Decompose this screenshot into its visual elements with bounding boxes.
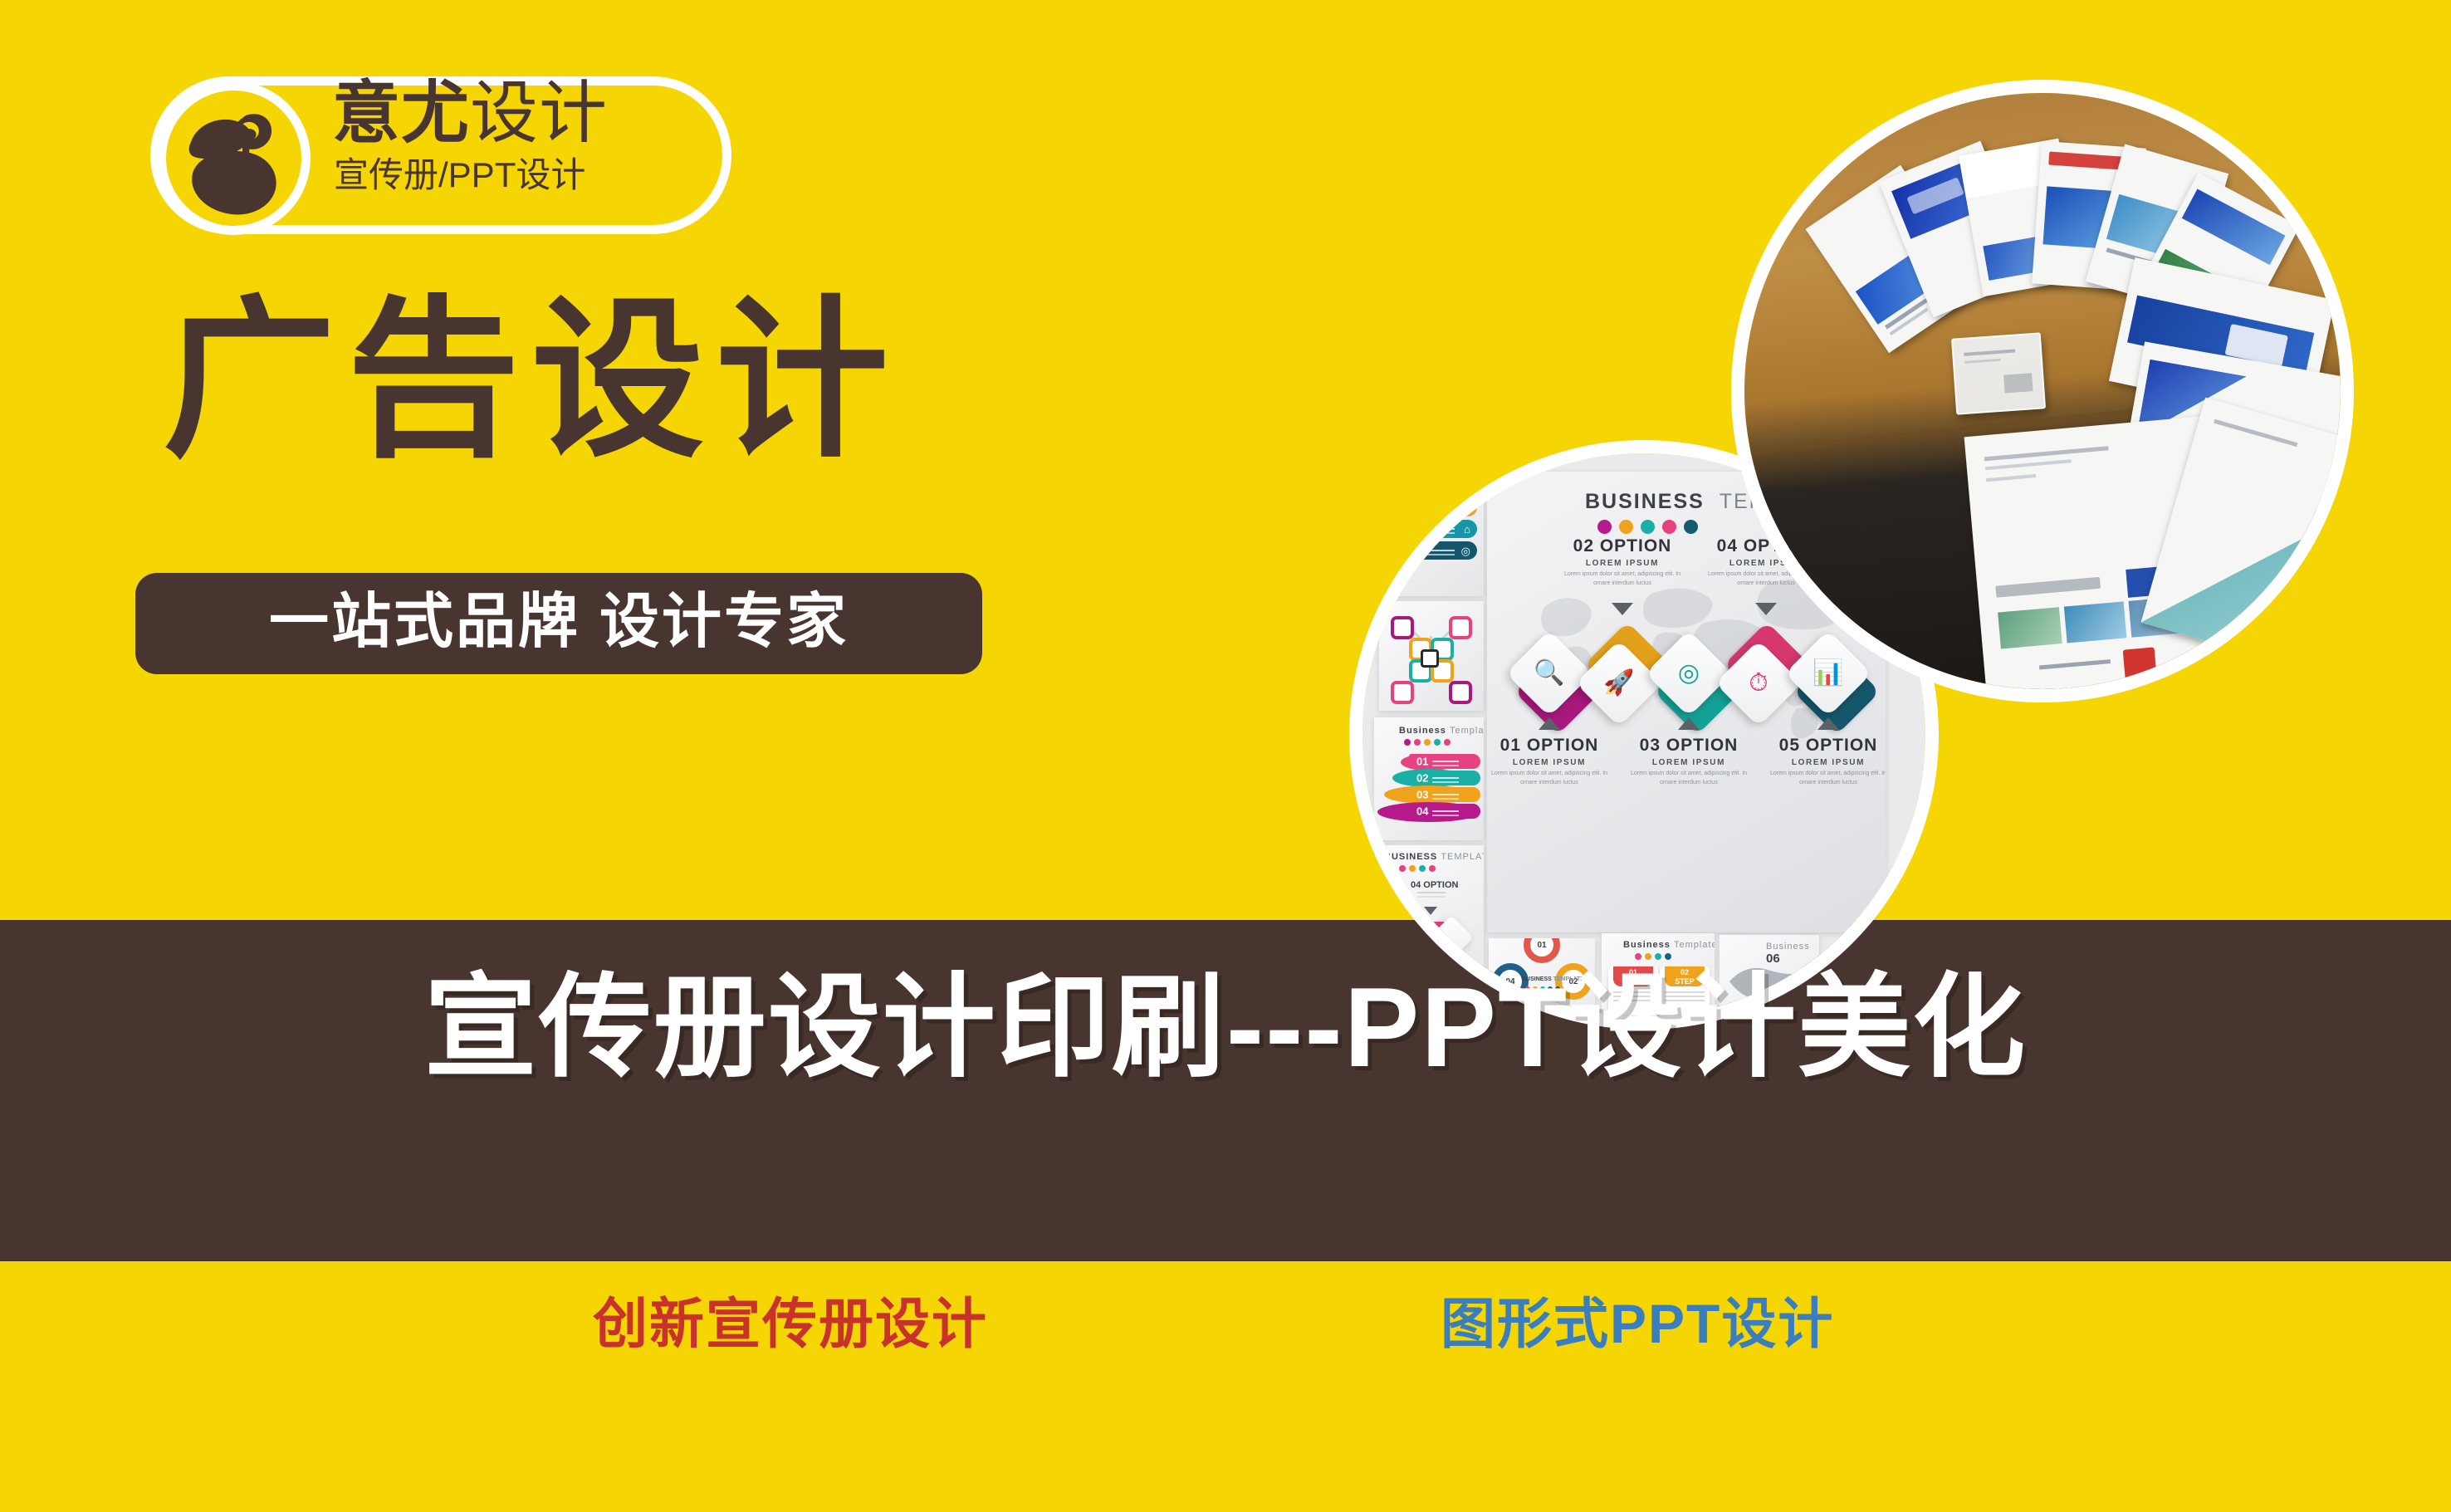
brochure-photo-inner (1744, 93, 2341, 689)
node-icon (1449, 616, 1472, 639)
map-slide-dots (1389, 865, 1436, 872)
ribbon-row: ◎ (1391, 541, 1477, 560)
brochure-photo-circle (1731, 80, 2354, 702)
ribbon-row (1391, 477, 1477, 495)
corner-slide-title: Business (1766, 942, 1810, 952)
map-slide-option: 04 OPTION (1411, 880, 1458, 890)
hero-option-label: 05 OPTION LOREM IPSUM Lorem ipsum dolor … (1766, 736, 1886, 788)
card-holder (1951, 332, 2046, 414)
pyramid-title: Business Template (1399, 726, 1484, 736)
ribbon-row (1391, 498, 1477, 516)
step-slide-dots (1635, 953, 1671, 960)
brand-tagline: 宣传册/PPT设计 (334, 158, 585, 193)
hero-dot-row (1597, 520, 1698, 534)
ring-node: 01 (1524, 938, 1560, 963)
node-icon (1391, 681, 1414, 704)
brand-name-thin: 设计 (470, 76, 608, 151)
target-icon: ◎ (1461, 545, 1470, 558)
ribbon-slide: ⌂ ◎ (1386, 440, 1484, 596)
node-icon (1391, 616, 1414, 639)
pyramid-slide: Business Template 01 02 03 04 (1374, 717, 1484, 840)
badge-label: 一站式品牌 设计专家 (269, 592, 849, 656)
brand-name: 意尤设计 (332, 80, 608, 148)
node-icon (1449, 681, 1472, 704)
rocket-icon: 🚀 (1588, 653, 1650, 714)
status-badge: 一站式品牌 设计专家 (135, 573, 982, 674)
node-grid-slide (1379, 601, 1484, 711)
banner-headline: 宣传册设计印刷---PPT设计美化 (0, 968, 2451, 1087)
caption-left: 创新宣传册设计 (593, 1294, 988, 1353)
caption-right: 图形式PPT设计 (1441, 1294, 1834, 1353)
ribbon-row: ⌂ (1391, 520, 1477, 538)
magnifier-icon: 🔍 (1519, 643, 1580, 704)
leaf-bird-mark-icon (157, 81, 311, 235)
hero-option-label: 02 OPTION LOREM IPSUM Lorem ipsum dolor … (1560, 536, 1685, 589)
page-title: 广告设计 (163, 295, 900, 467)
hero-option-label: 03 OPTION LOREM IPSUM Lorem ipsum dolor … (1627, 736, 1751, 788)
hero-option-label: 01 OPTION LOREM IPSUM Lorem ipsum dolor … (1487, 736, 1612, 788)
step-slide-title: Business Template (1623, 940, 1715, 950)
brand-name-bold: 意尤 (332, 76, 470, 151)
target-icon: ◎ (1658, 643, 1720, 704)
pyramid-dots (1404, 739, 1451, 746)
map-slide-title: BUSINESS TEMPLATE (1384, 852, 1484, 862)
poster-canvas: 意尤设计 宣传册/PPT设计 广告设计 一站式品牌 设计专家 ⌂ ◎ (0, 0, 2451, 1512)
home-icon: ⌂ (1464, 523, 1470, 536)
